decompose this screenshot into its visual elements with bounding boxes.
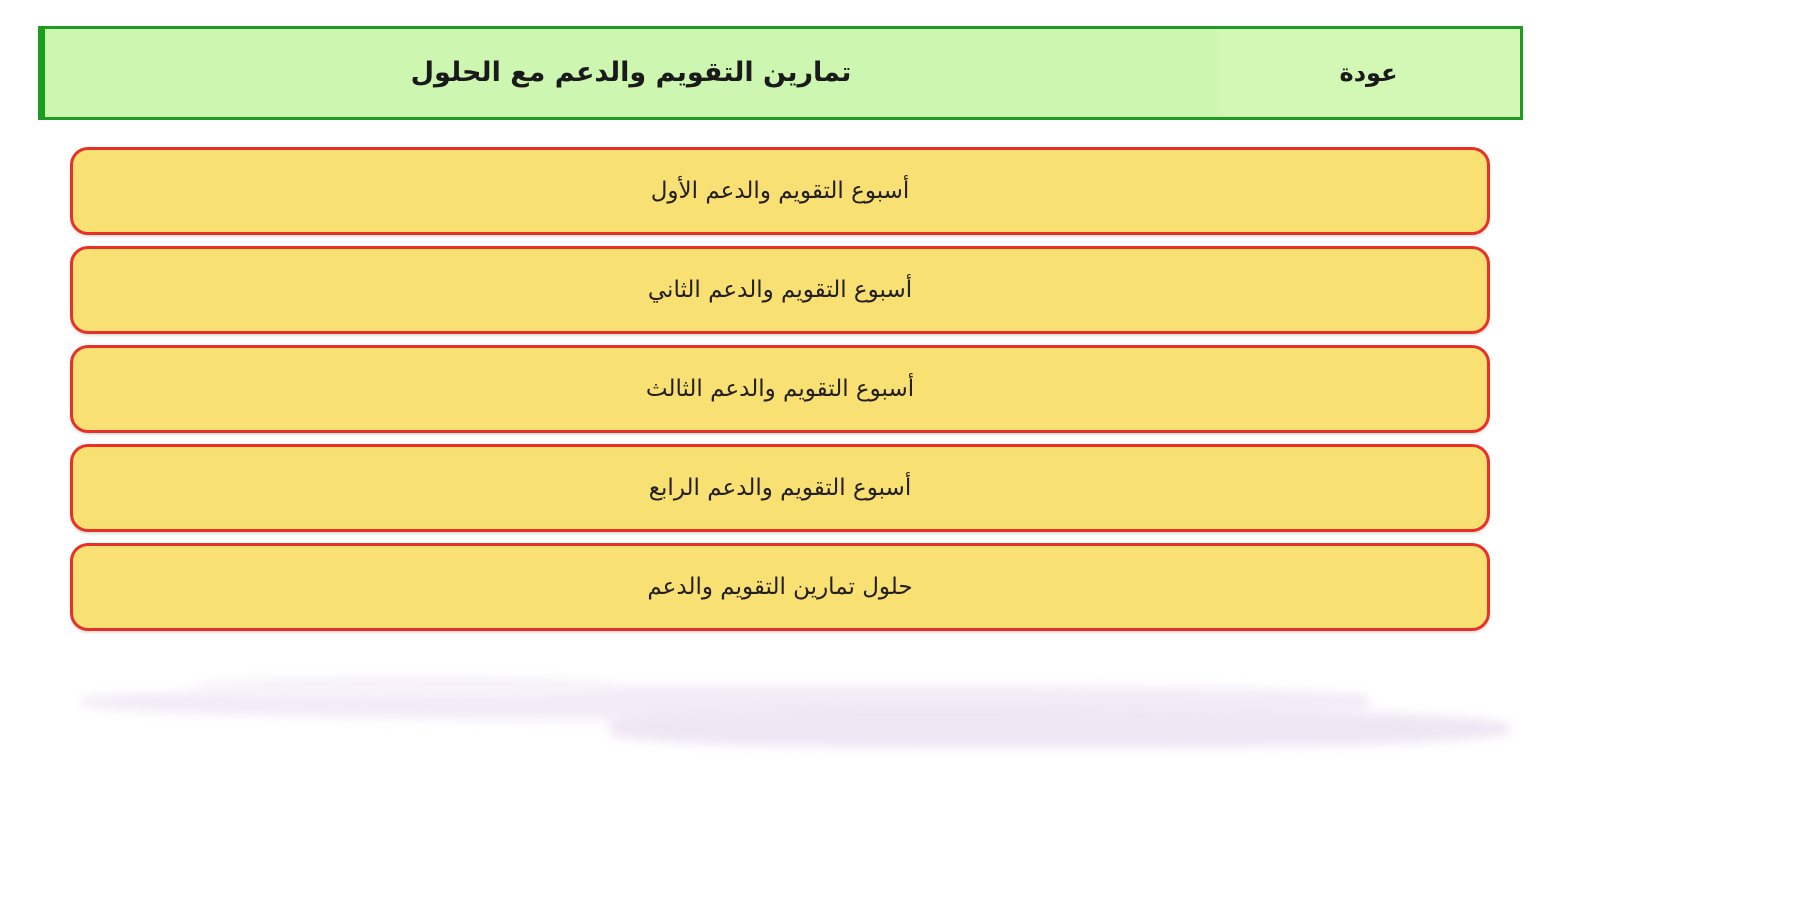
menu-item-label: أسبوع التقويم والدعم الرابع bbox=[649, 474, 911, 503]
menu-item-label: أسبوع التقويم والدعم الثاني bbox=[648, 276, 912, 305]
page-title-cell: تمارين التقويم والدعم مع الحلول bbox=[41, 29, 1217, 117]
back-button-label: عودة bbox=[1340, 59, 1398, 87]
menu-list: أسبوع التقويم والدعم الأول أسبوع التقويم… bbox=[70, 147, 1490, 642]
page-root: تمارين التقويم والدعم مع الحلول عودة أسب… bbox=[0, 0, 1800, 900]
menu-item-label: أسبوع التقويم والدعم الثالث bbox=[646, 375, 914, 404]
scan-smudge-artifact bbox=[70, 676, 1460, 748]
menu-item-label: أسبوع التقويم والدعم الأول bbox=[651, 177, 910, 206]
header-table: تمارين التقويم والدعم مع الحلول عودة bbox=[38, 26, 1523, 120]
smudge-shape bbox=[190, 676, 620, 698]
menu-item-week-1[interactable]: أسبوع التقويم والدعم الأول bbox=[70, 147, 1490, 235]
back-button[interactable]: عودة bbox=[1217, 29, 1520, 117]
smudge-shape bbox=[80, 686, 1370, 720]
menu-item-week-2[interactable]: أسبوع التقويم والدعم الثاني bbox=[70, 246, 1490, 334]
smudge-shape bbox=[610, 708, 1510, 748]
menu-item-week-4[interactable]: أسبوع التقويم والدعم الرابع bbox=[70, 444, 1490, 532]
menu-item-week-3[interactable]: أسبوع التقويم والدعم الثالث bbox=[70, 345, 1490, 433]
page-title: تمارين التقويم والدعم مع الحلول bbox=[411, 57, 852, 89]
menu-item-label: حلول تمارين التقويم والدعم bbox=[647, 573, 912, 602]
menu-item-solutions[interactable]: حلول تمارين التقويم والدعم bbox=[70, 543, 1490, 631]
